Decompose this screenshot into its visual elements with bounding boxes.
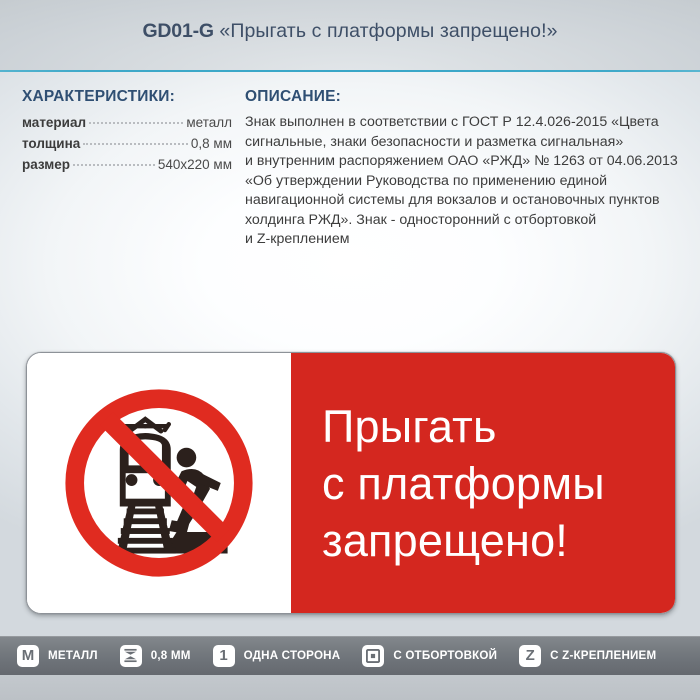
spec-item-z-mount: Z С Z-КРЕПЛЕНИЕМ (519, 645, 656, 667)
caliper-glyph (123, 648, 138, 663)
description-line: «Об утверждении Руководства по применени… (245, 172, 695, 192)
description-line: сигнальные, знаки безопасности и разметк… (245, 133, 695, 153)
spec-label: 0,8 ММ (151, 649, 191, 662)
description-line: холдинга РЖД». Знак - односторонний с от… (245, 211, 695, 231)
page-title-code: GD01-G (142, 20, 213, 42)
characteristics-block: ХАРАКТЕРИСТИКИ: материал металл толщина … (22, 88, 232, 175)
characteristic-key: материал (22, 112, 86, 133)
dot-leader (83, 143, 188, 145)
characteristic-row-material: материал металл (22, 112, 232, 133)
characteristic-value: металл (186, 112, 232, 133)
description-line: и Z-креплением (245, 230, 695, 250)
characteristic-value: 0,8 мм (191, 133, 232, 154)
description-line: Знак выполнен в соответствии с ГОСТ Р 12… (245, 113, 695, 133)
no-jumping-from-platform-pictogram (61, 385, 257, 581)
characteristic-value: 540х220 мм (158, 154, 232, 175)
sign-pictogram-panel (27, 353, 291, 613)
thickness-caliper-icon (120, 645, 142, 667)
characteristics-heading: ХАРАКТЕРИСТИКИ: (22, 88, 232, 106)
metal-badge-glyph: M (22, 648, 35, 663)
dot-leader (89, 122, 183, 124)
spec-label: С Z-КРЕПЛЕНИЕМ (550, 649, 656, 662)
spec-label: ОДНА СТОРОНА (244, 649, 341, 662)
sign-preview: Прыгать с платформы запрещено! (26, 352, 676, 614)
spec-label: МЕТАЛЛ (48, 649, 98, 662)
sign-text-panel: Прыгать с платформы запрещено! (291, 353, 675, 613)
sign-text-line: с платформы (322, 455, 675, 512)
product-card-page: GD01-G «Прыгать с платформы запрещено!» … (0, 0, 700, 700)
characteristic-key: размер (22, 154, 70, 175)
page-title: GD01-G «Прыгать с платформы запрещено!» (0, 20, 700, 43)
page-title-name: «Прыгать с платформы запрещено!» (219, 20, 557, 42)
one-side-badge-glyph: 1 (219, 648, 227, 663)
spec-item-flanged-edge: С ОТБОРТОВКОЙ (362, 645, 497, 667)
description-block: ОПИСАНИЕ: Знак выполнен в соответствии с… (245, 88, 695, 250)
sign-text-line: запрещено! (322, 512, 675, 569)
characteristic-row-size: размер 540х220 мм (22, 154, 232, 175)
header-divider-line (0, 70, 700, 72)
flanged-edge-badge-icon (362, 645, 384, 667)
z-mount-badge-glyph: Z (526, 648, 535, 663)
flanged-square-glyph (366, 649, 380, 663)
spec-footer-bar: M МЕТАЛЛ 0,8 ММ 1 ОДНА СТОРОНА (0, 636, 700, 675)
characteristic-row-thickness: толщина 0,8 мм (22, 133, 232, 154)
spec-label: С ОТБОРТОВКОЙ (393, 649, 497, 662)
description-line: и внутренним распоряжением ОАО «РЖД» № 1… (245, 152, 695, 172)
spec-item-thickness: 0,8 ММ (120, 645, 191, 667)
footer-base-strip (0, 675, 700, 700)
description-heading: ОПИСАНИЕ: (245, 88, 695, 106)
sign-plate: Прыгать с платформы запрещено! (26, 352, 676, 614)
dot-leader (73, 164, 155, 166)
sign-text-line: Прыгать (322, 398, 675, 455)
description-body: Знак выполнен в соответствии с ГОСТ Р 12… (245, 113, 695, 250)
one-side-badge-icon: 1 (213, 645, 235, 667)
characteristic-key: толщина (22, 133, 80, 154)
metal-badge-icon: M (17, 645, 39, 667)
spec-item-material: M МЕТАЛЛ (17, 645, 98, 667)
spec-item-sides: 1 ОДНА СТОРОНА (213, 645, 341, 667)
description-line: навигационной системы для вокзалов и ост… (245, 191, 695, 211)
z-mount-badge-icon: Z (519, 645, 541, 667)
